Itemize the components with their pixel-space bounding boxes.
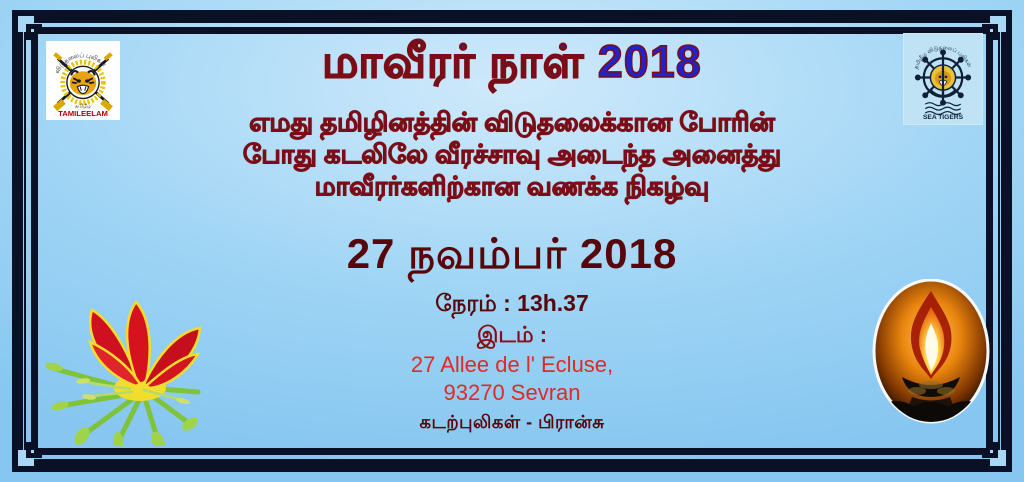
memorial-flame-lamp-image — [872, 279, 990, 424]
flame-icon — [872, 279, 990, 424]
logo-caption: TAMILEELAM — [58, 108, 108, 117]
subtitle-line-2: போது கடலிலே வீரச்சாவு அடைந்த அனைத்து — [110, 138, 914, 170]
memorial-poster: விடுதலைப் புலிகள் தமிழீழ TAMILEELAM — [0, 0, 1024, 482]
gloriosa-flame-lily-image — [40, 296, 225, 446]
event-date: 27 நவம்பர் 2018 — [0, 230, 1024, 284]
flower-icon — [40, 296, 225, 446]
subtitle-line-3: மாவீரர்களிற்கான வணக்க நிகழ்வு — [110, 170, 914, 202]
poster-title: மாவீரர் நாள் 2018 — [0, 36, 1024, 94]
corner-ornament-bottom-right — [972, 432, 1012, 472]
poster-subtitle: எமது தமிழினத்தின் விடுதலைக்கான போரின் போ… — [110, 106, 914, 202]
subtitle-line-1: எமது தமிழினத்தின் விடுதலைக்கான போரின் — [110, 106, 914, 138]
sea-tigers-caption: SEA TIGERS — [923, 114, 964, 121]
